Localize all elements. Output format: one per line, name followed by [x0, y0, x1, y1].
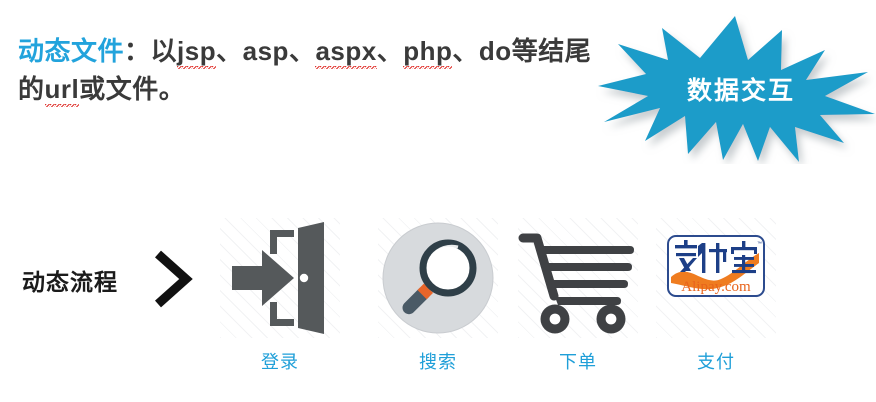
slide-canvas: 动态文件：以jsp、asp、aspx、php、do等结尾的url或文件。 [da… [0, 0, 876, 402]
chevron-right-icon [150, 248, 196, 310]
login-icon-box [220, 218, 340, 338]
caption-search: 搜索 [378, 348, 498, 374]
data-exchange-badge: 数据交互 [596, 14, 876, 164]
separator-1: 、 [216, 36, 243, 66]
starburst-icon [596, 14, 876, 164]
shopping-cart-icon [518, 218, 638, 338]
token-do: do [479, 36, 512, 66]
login-door-icon [220, 218, 340, 338]
magnifier-search-icon [378, 218, 498, 338]
headline-accent: 动态文件 [18, 36, 124, 66]
separator-4: 、 [452, 36, 479, 66]
alipay-logo-art: ™ Alipay.com [669, 237, 763, 295]
search-icon-box [378, 218, 498, 338]
caption-order: 下单 [518, 348, 638, 374]
token-aspx: aspx [315, 36, 376, 69]
flow-step-search[interactable]: 搜索 [378, 218, 498, 374]
token-php: php [403, 36, 452, 69]
headline-text: 动态文件：以jsp、asp、aspx、php、do等结尾的url或文件。 [18, 32, 608, 108]
caption-pay: 支付 [656, 348, 776, 374]
alipay-wordmark: Alipay.com [681, 279, 751, 295]
token-jsp: jsp [177, 36, 216, 69]
flow-step-order[interactable]: 下单 [518, 218, 638, 374]
caption-login: 登录 [220, 348, 340, 374]
headline-line2-b: 或文件。 [79, 74, 185, 104]
headline-segment-1: 以 [151, 36, 178, 66]
cart-icon-box [518, 218, 638, 338]
flow-step-pay[interactable]: ™ Alipay.com 支付 [656, 218, 776, 374]
flow-label: 动态流程 [22, 263, 118, 297]
headline-segment-2: 等结 [512, 36, 565, 66]
token-url: url [45, 74, 80, 107]
alipay-logo-icon: ™ Alipay.com [667, 235, 765, 297]
headline-colon: ： [124, 36, 151, 66]
svg-text:™: ™ [757, 241, 762, 247]
separator-3: 、 [377, 36, 404, 66]
token-asp: asp [243, 36, 289, 66]
flow-step-login[interactable]: 登录 [220, 218, 340, 374]
alipay-icon-box: ™ Alipay.com [656, 218, 776, 338]
separator-2: 、 [289, 36, 316, 66]
